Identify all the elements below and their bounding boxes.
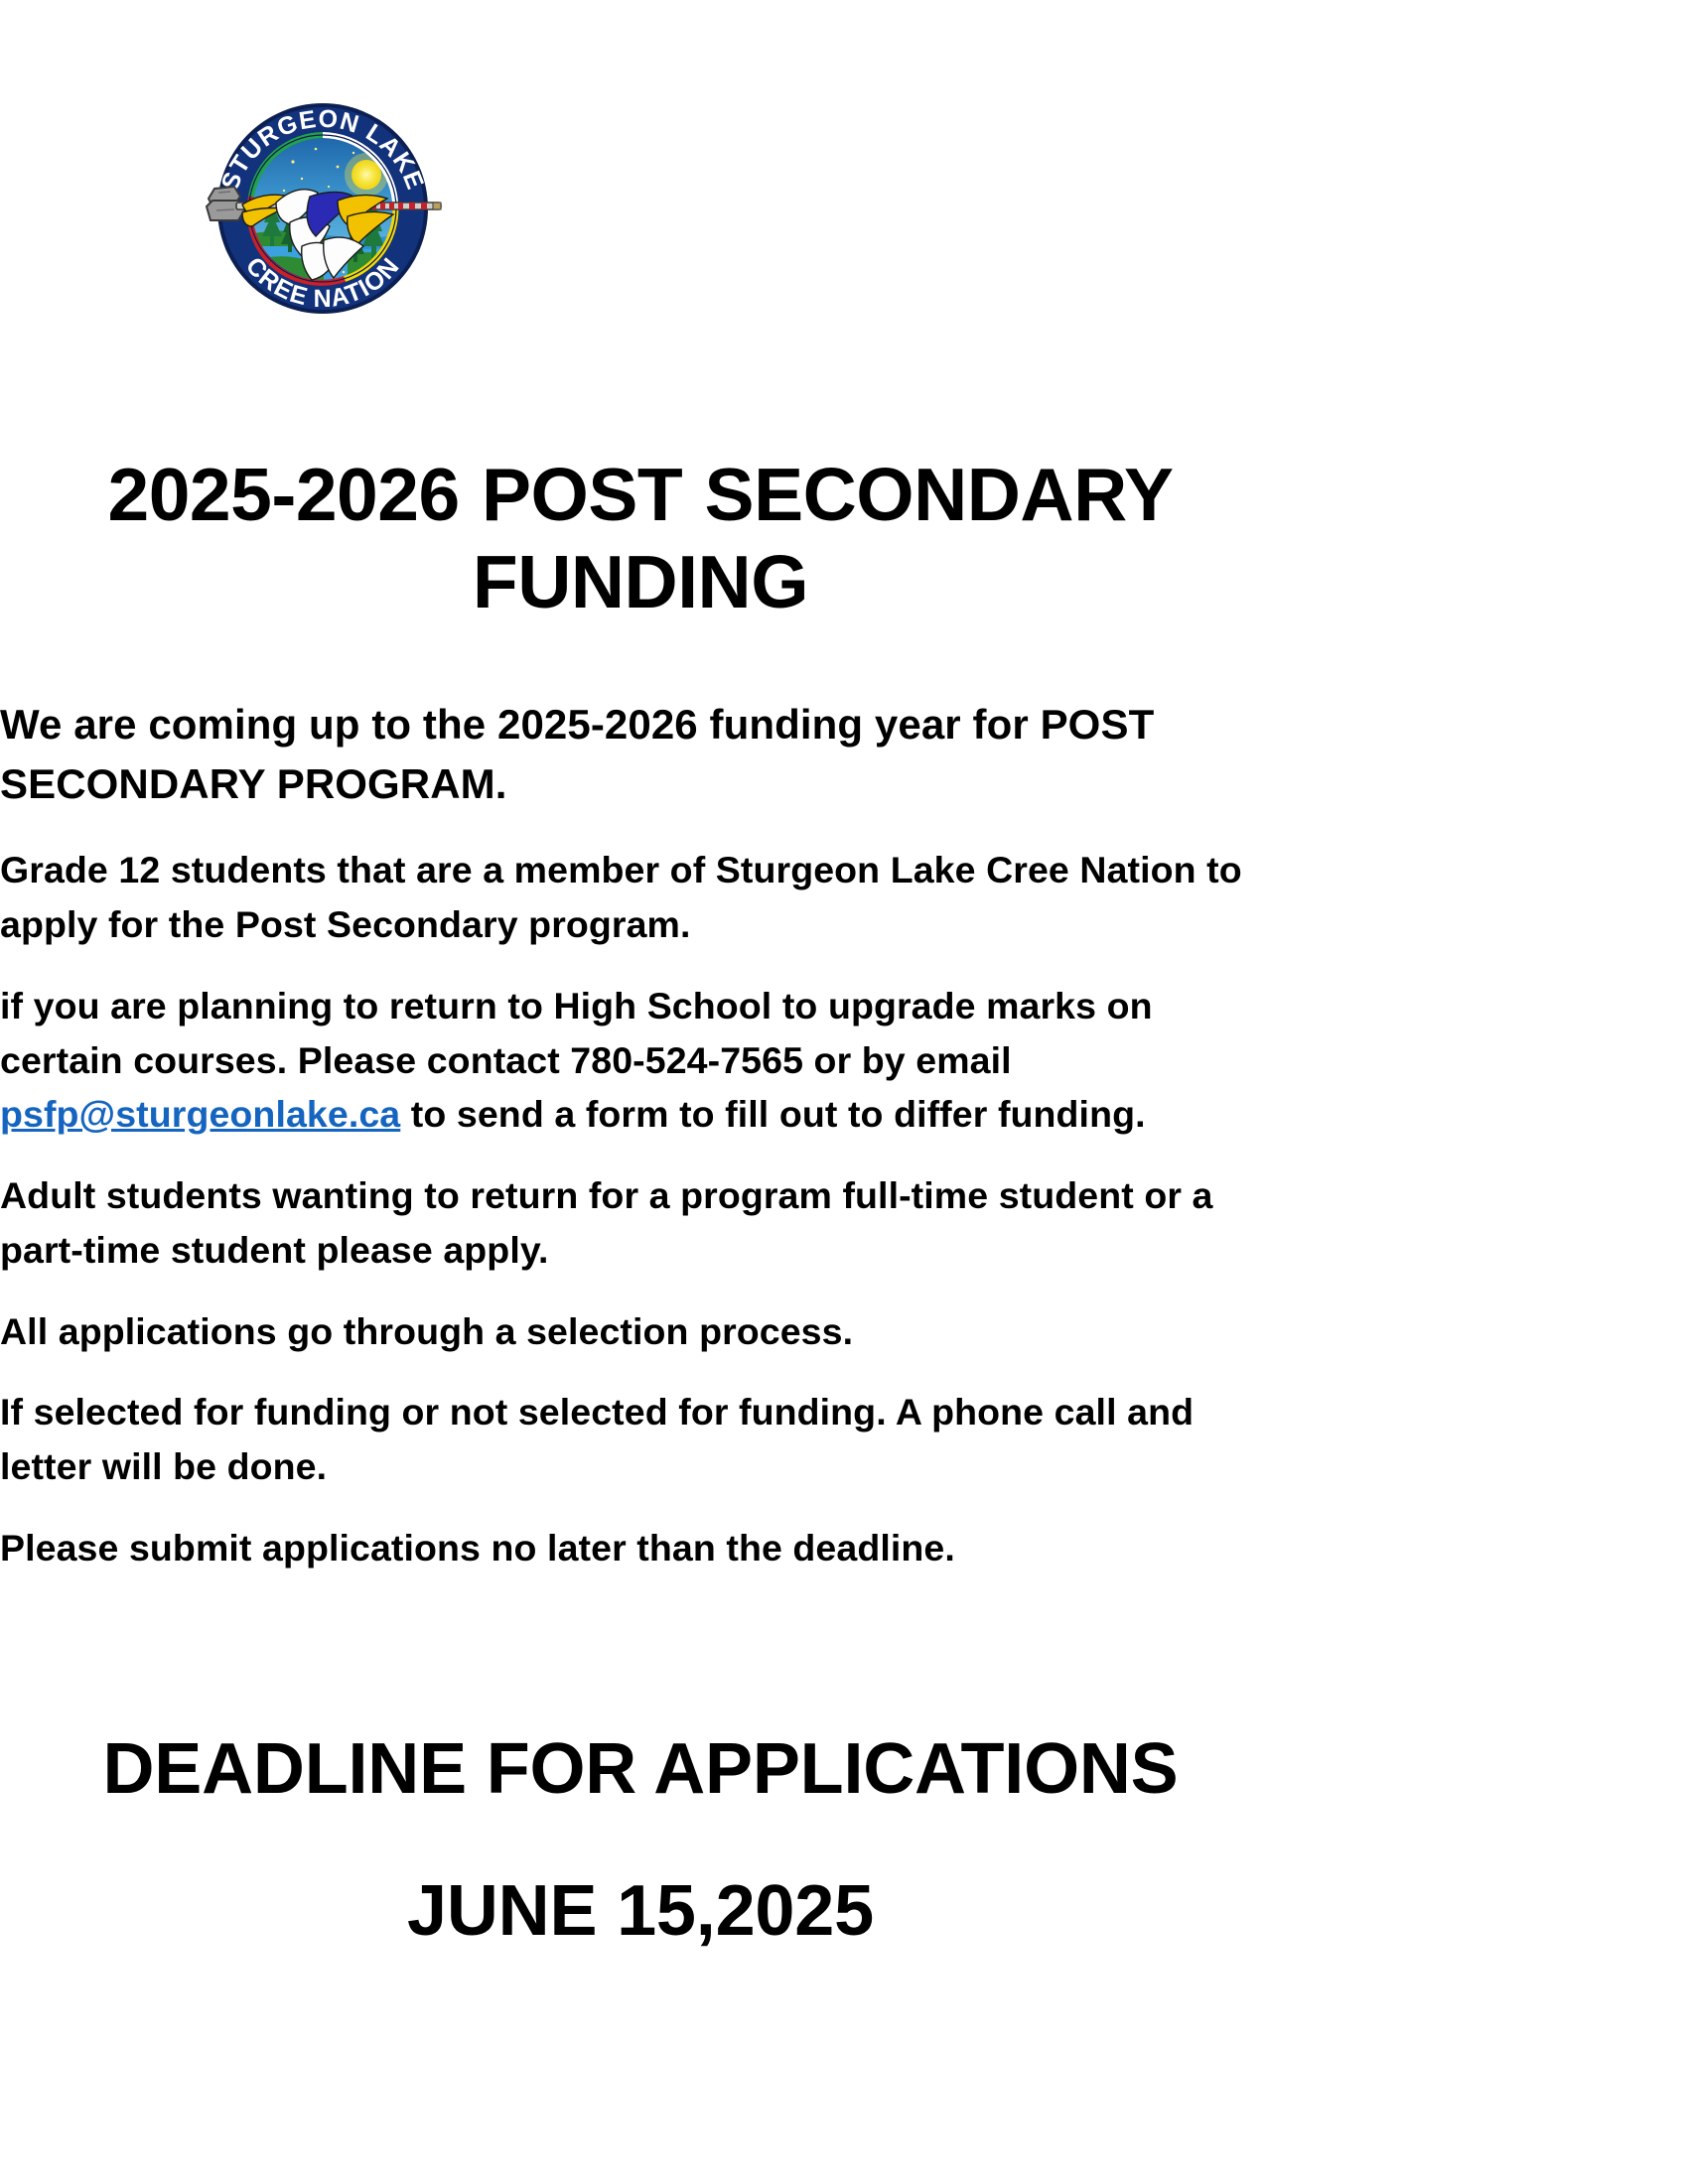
poster-page: STURGEON LAKE CREE NATION: [0, 0, 1688, 2184]
page-title-line-1: 2025-2026 POST SECONDARY: [0, 452, 1281, 539]
email-link[interactable]: psfp@sturgeonlake.ca: [0, 1093, 400, 1135]
upgrade-text-before-link: if you are planning to return to High Sc…: [0, 985, 1153, 1081]
upgrade-text-after-link: to send a form to fill out to differ fun…: [400, 1093, 1145, 1135]
body-content: We are coming up to the 2025-2026 fundin…: [0, 695, 1281, 1602]
page-title: 2025-2026 POST SECONDARY FUNDING: [0, 452, 1281, 626]
paragraph-selection: All applications go through a selection …: [0, 1304, 1281, 1359]
paragraph-grade-12: Grade 12 students that are a member of S…: [0, 843, 1281, 952]
paragraph-adult-students: Adult students wanting to return for a p…: [0, 1168, 1281, 1278]
deadline-section: DEADLINE FOR APPLICATIONS JUNE 15,2025: [0, 1727, 1281, 1954]
deadline-date: JUNE 15,2025: [0, 1869, 1281, 1954]
deadline-heading: DEADLINE FOR APPLICATIONS: [0, 1727, 1281, 1812]
paragraph-submit: Please submit applications no later than…: [0, 1521, 1281, 1575]
paragraph-upgrade-contact: if you are planning to return to High Sc…: [0, 979, 1281, 1142]
sturgeon-lake-cree-nation-logo: STURGEON LAKE CREE NATION: [199, 87, 447, 326]
page-title-line-2: FUNDING: [0, 539, 1281, 626]
logo-graphic: STURGEON LAKE CREE NATION: [199, 87, 447, 326]
paragraph-notification: If selected for funding or not selected …: [0, 1385, 1281, 1494]
paragraph-intro: We are coming up to the 2025-2026 fundin…: [0, 695, 1281, 813]
